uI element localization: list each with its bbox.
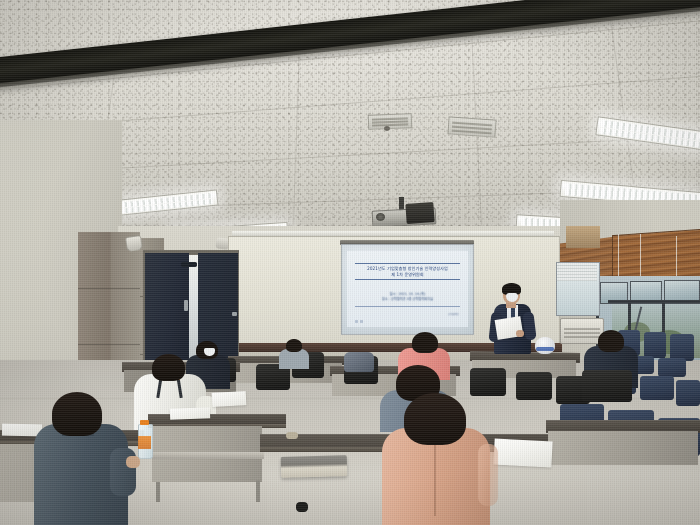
office-chair[interactable]: [470, 368, 506, 396]
office-chair[interactable]: [582, 370, 632, 402]
small-desk-object: [286, 432, 298, 439]
conference-room-photo: 2021년도 기업맞춤형 창인기술 인력양성사업 제 1차 운영위원회 일시 :…: [0, 0, 700, 525]
attendee-front-left-hair: [52, 392, 102, 436]
paper-document: [493, 439, 552, 468]
desk-leg: [156, 482, 160, 502]
door-closer: [181, 262, 197, 267]
attendee-coral-shirt-hair: [412, 332, 438, 353]
desk-leg: [256, 480, 260, 502]
paper-document: [170, 407, 210, 419]
slide-title-line1: 2021년도 기업맞춤형 창인기술 인력양성사업: [347, 266, 468, 271]
presenter-hand: [516, 330, 524, 337]
office-chair[interactable]: [516, 372, 552, 400]
attendee-dark-suit-right-hair: [598, 330, 624, 352]
blind-cord[interactable]: [640, 234, 641, 282]
projector-body: [405, 202, 434, 224]
attendee-front-right-arm: [478, 444, 498, 506]
ceiling-air-vent: [368, 113, 412, 130]
blue-stacking-chair[interactable]: [676, 380, 700, 406]
projector-lens: [376, 213, 385, 221]
slide-footer: 산학협력단: [448, 313, 459, 316]
office-chair[interactable]: [268, 466, 396, 525]
blue-stacking-chair[interactable]: [670, 334, 694, 361]
desk-panel: [548, 431, 698, 465]
bottle-cap: [140, 420, 149, 425]
helmet-band: [536, 347, 554, 351]
navy-door-left[interactable]: [145, 253, 189, 367]
jacket-on-chair: [344, 352, 374, 372]
door-handle[interactable]: [184, 300, 188, 311]
blue-stacking-chair[interactable]: [640, 376, 674, 400]
office-chair[interactable]: [588, 470, 700, 525]
blind-cord[interactable]: [618, 234, 619, 282]
sprinkler-head: [384, 126, 390, 131]
back-window-blind[interactable]: [557, 263, 597, 281]
ceiling-air-vent: [447, 116, 496, 137]
projection-screen: 2021년도 기업맞춤형 창인기술 인력양성사업 제 1차 운영위원회 일시 :…: [341, 244, 474, 335]
window-mullion: [608, 300, 700, 303]
blue-stacking-chair[interactable]: [644, 332, 666, 358]
slide-title-line2: 제 1차 운영위원회: [347, 272, 468, 277]
wall-speaker: [125, 235, 143, 252]
chair-armrest[interactable]: [296, 502, 308, 512]
attendee-front-right-hair: [404, 393, 466, 445]
door-handle[interactable]: [232, 312, 237, 316]
slide-corner-mark: [355, 320, 358, 323]
attendee-front-left-hand: [126, 456, 140, 468]
slide-subtitle-line2: 장소 : 산학협력관 3층 산학협력회의실: [347, 297, 468, 301]
desk-shelf: [152, 452, 264, 459]
blue-stacking-chair[interactable]: [658, 358, 686, 377]
paper-document: [212, 391, 247, 407]
attendee-white-shirt-hair: [152, 354, 185, 381]
wall-cabinet: [566, 226, 600, 248]
white-safety-helmet: [535, 337, 555, 354]
attendee-back-row-hair: [286, 339, 302, 352]
bottle-label: [138, 436, 151, 449]
slide-corner-mark: [360, 320, 363, 323]
slide-subtitle-line1: 일시 : 2021. 10. 14.(목): [347, 292, 468, 296]
presentation-slide: 2021년도 기업맞춤형 창인기술 인력양성사업 제 1차 운영위원회 일시 :…: [347, 251, 468, 327]
attendee-back-row: [279, 349, 309, 369]
